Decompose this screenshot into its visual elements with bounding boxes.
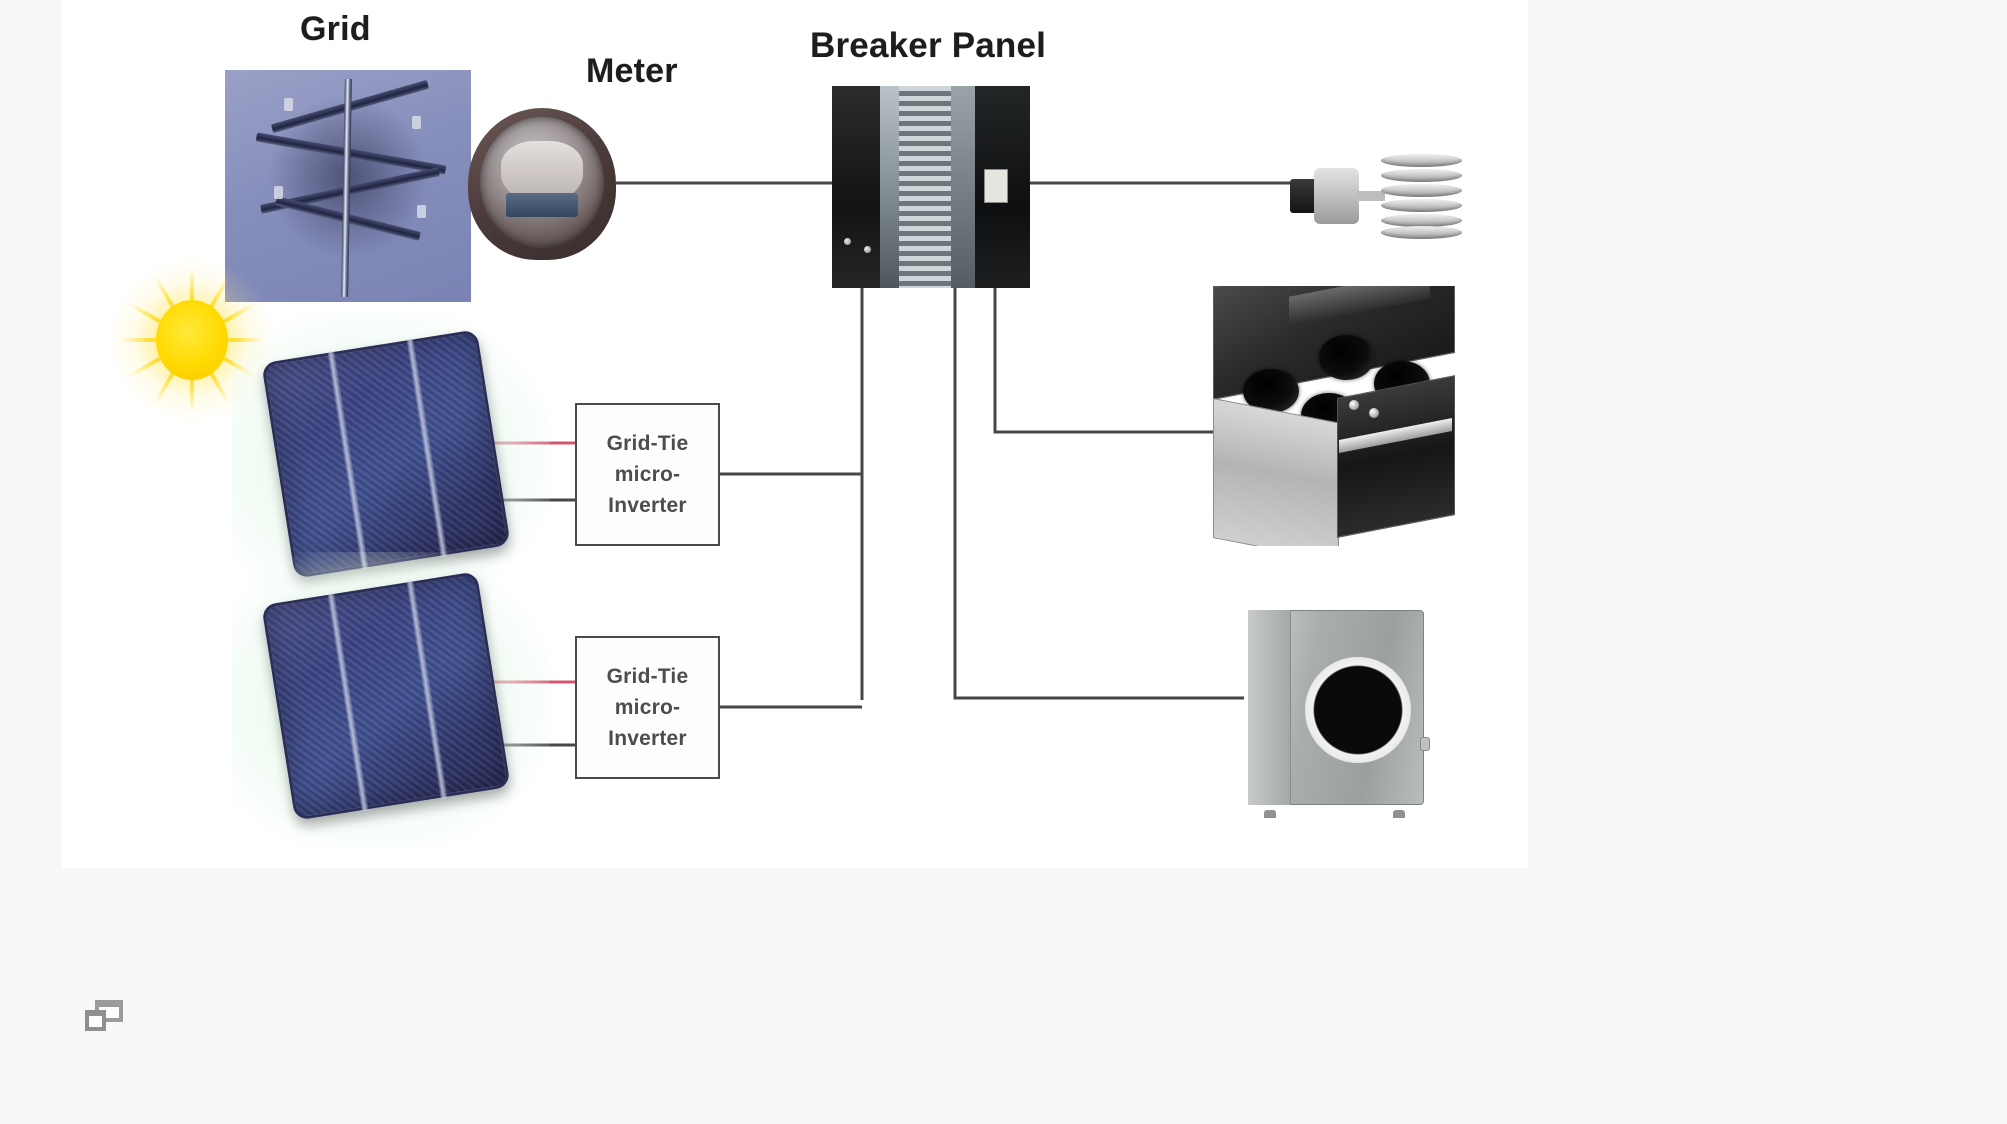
panel-main-switch xyxy=(984,169,1008,203)
washer-side-panel xyxy=(1248,610,1291,805)
panel-breaker-stack xyxy=(899,86,950,288)
washing-machine-image xyxy=(1240,606,1436,818)
pole-insulator xyxy=(284,98,293,111)
solar-cell-2-image xyxy=(262,572,510,820)
page-root: Grid Meter Breaker Panel xyxy=(0,0,2007,1124)
grid-tie-micro-inverter-1: Grid-Tie micro- Inverter xyxy=(575,403,720,546)
meter-nameplate xyxy=(506,193,577,217)
diagram-card: Grid Meter Breaker Panel xyxy=(62,0,1528,868)
bulb-coil xyxy=(1381,226,1462,239)
inverter-label-line3: Inverter xyxy=(608,723,687,754)
electric-meter-image xyxy=(468,108,616,260)
inverter-label-line2: micro- xyxy=(615,692,680,723)
inverter-label-line2: micro- xyxy=(615,459,680,490)
label-breaker-panel: Breaker Panel xyxy=(810,26,1046,66)
washer-door xyxy=(1305,657,1411,763)
bulb-spiral-tube xyxy=(1381,152,1462,240)
bulb-base xyxy=(1314,168,1359,223)
cfl-light-bulb-image xyxy=(1290,150,1462,242)
solar-cell-1-image xyxy=(262,330,510,578)
restore-icon-front-window xyxy=(85,1010,106,1031)
sun-core xyxy=(156,300,228,379)
panel-screw xyxy=(864,246,871,253)
solar-cell-surface xyxy=(261,571,511,821)
inverter-label-line1: Grid-Tie xyxy=(607,428,689,459)
solar-busbar xyxy=(327,351,368,570)
bulb-coil xyxy=(1381,169,1462,182)
panel-section xyxy=(951,86,975,288)
inverter-label-line1: Grid-Tie xyxy=(607,661,689,692)
wire-panel-bus-mid xyxy=(955,288,1244,698)
wire-panel-to-stove xyxy=(995,288,1230,432)
washer-foot xyxy=(1393,810,1405,818)
stove-oven-door xyxy=(1337,375,1455,538)
label-grid: Grid xyxy=(300,10,371,49)
bulb-coil xyxy=(1381,199,1462,212)
bulb-coil xyxy=(1381,154,1462,167)
diagram-canvas: Grid Meter Breaker Panel xyxy=(62,0,1528,868)
washer-foot xyxy=(1264,810,1276,818)
solar-busbar xyxy=(406,338,447,557)
solar-cell-surface xyxy=(261,329,511,579)
stove-left-panel xyxy=(1213,398,1339,546)
washer-dial xyxy=(1420,737,1430,751)
inverter-label-line3: Inverter xyxy=(608,490,687,521)
solar-busbar xyxy=(327,593,368,812)
breaker-panel-image xyxy=(832,86,1030,288)
bulb-coil xyxy=(1381,184,1462,197)
panel-section xyxy=(880,86,900,288)
bulb-contact xyxy=(1290,179,1316,212)
panel-screw xyxy=(844,238,851,245)
bulb-coil xyxy=(1381,214,1462,227)
stove-burner xyxy=(1319,335,1374,379)
panel-section xyxy=(832,86,880,288)
solar-busbar xyxy=(406,580,447,799)
pole-insulator xyxy=(412,116,421,129)
pole-insulator xyxy=(274,186,283,199)
stove-range-image xyxy=(1208,286,1460,546)
restore-windows-icon[interactable] xyxy=(85,1000,123,1032)
pole-insulator xyxy=(417,205,426,218)
grid-tie-micro-inverter-2: Grid-Tie micro- Inverter xyxy=(575,636,720,779)
label-meter: Meter xyxy=(586,52,678,91)
